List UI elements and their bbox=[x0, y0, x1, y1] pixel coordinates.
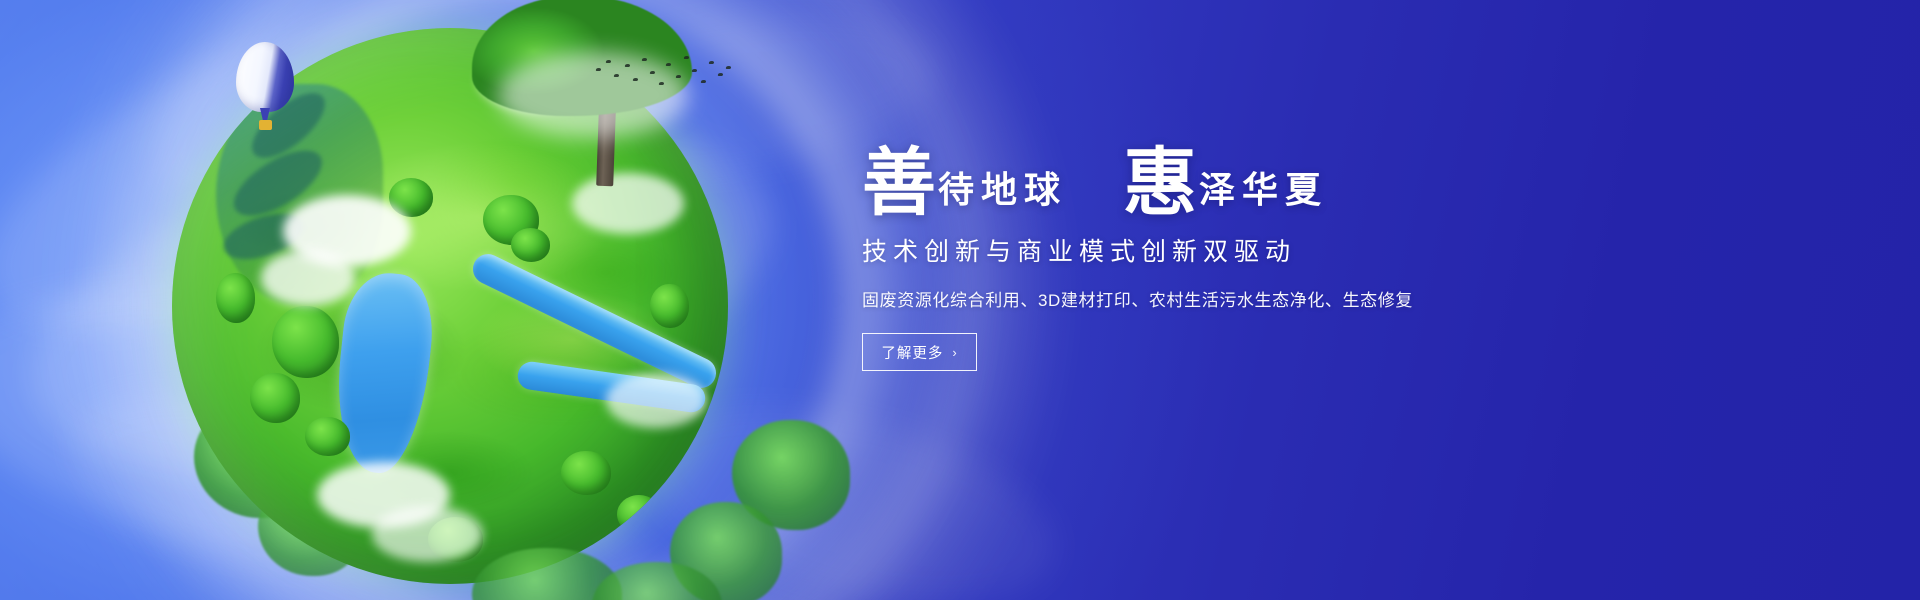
headline-large-char-1: 善 bbox=[862, 146, 936, 220]
tree-clump bbox=[272, 306, 339, 378]
tree-clump bbox=[650, 284, 689, 328]
subtitle: 技术创新与商业模式创新双驱动 bbox=[862, 232, 1562, 268]
balloon-neck bbox=[260, 108, 270, 120]
tree-clump bbox=[511, 228, 550, 261]
hot-air-balloon-icon bbox=[236, 42, 294, 138]
balloon-basket bbox=[259, 120, 272, 130]
learn-more-button[interactable]: 了解更多 › bbox=[862, 333, 977, 371]
tree-clump bbox=[216, 273, 255, 323]
banner-content: 善 待地球 惠 泽华夏 技术创新与商业模式创新双驱动 固废资源化综合利用、3D建… bbox=[862, 136, 1562, 371]
planet-cloud bbox=[372, 506, 483, 562]
tree-clump bbox=[305, 417, 349, 456]
tree-clump bbox=[561, 451, 611, 495]
headline: 善 待地球 惠 泽华夏 bbox=[862, 136, 1562, 222]
hero-banner: 善 待地球 惠 泽华夏 技术创新与商业模式创新双驱动 固废资源化综合利用、3D建… bbox=[0, 0, 1920, 600]
hero-tree-icon bbox=[462, 0, 692, 196]
balloon-envelope bbox=[236, 42, 294, 112]
tree-clump bbox=[617, 495, 661, 534]
planet-cloud bbox=[261, 250, 356, 306]
headline-small-text-2: 泽华夏 bbox=[1199, 161, 1328, 213]
headline-small-text-1: 待地球 bbox=[938, 161, 1067, 213]
tree-clump bbox=[250, 373, 300, 423]
chevron-right-icon: › bbox=[952, 345, 957, 360]
planet-cloud bbox=[606, 373, 706, 429]
learn-more-label: 了解更多 bbox=[881, 342, 943, 363]
description: 固废资源化综合利用、3D建材打印、农村生活污水生态净化、生态修复 bbox=[862, 286, 1562, 311]
bird-flock-icon bbox=[592, 52, 732, 92]
headline-large-char-2: 惠 bbox=[1123, 146, 1197, 220]
